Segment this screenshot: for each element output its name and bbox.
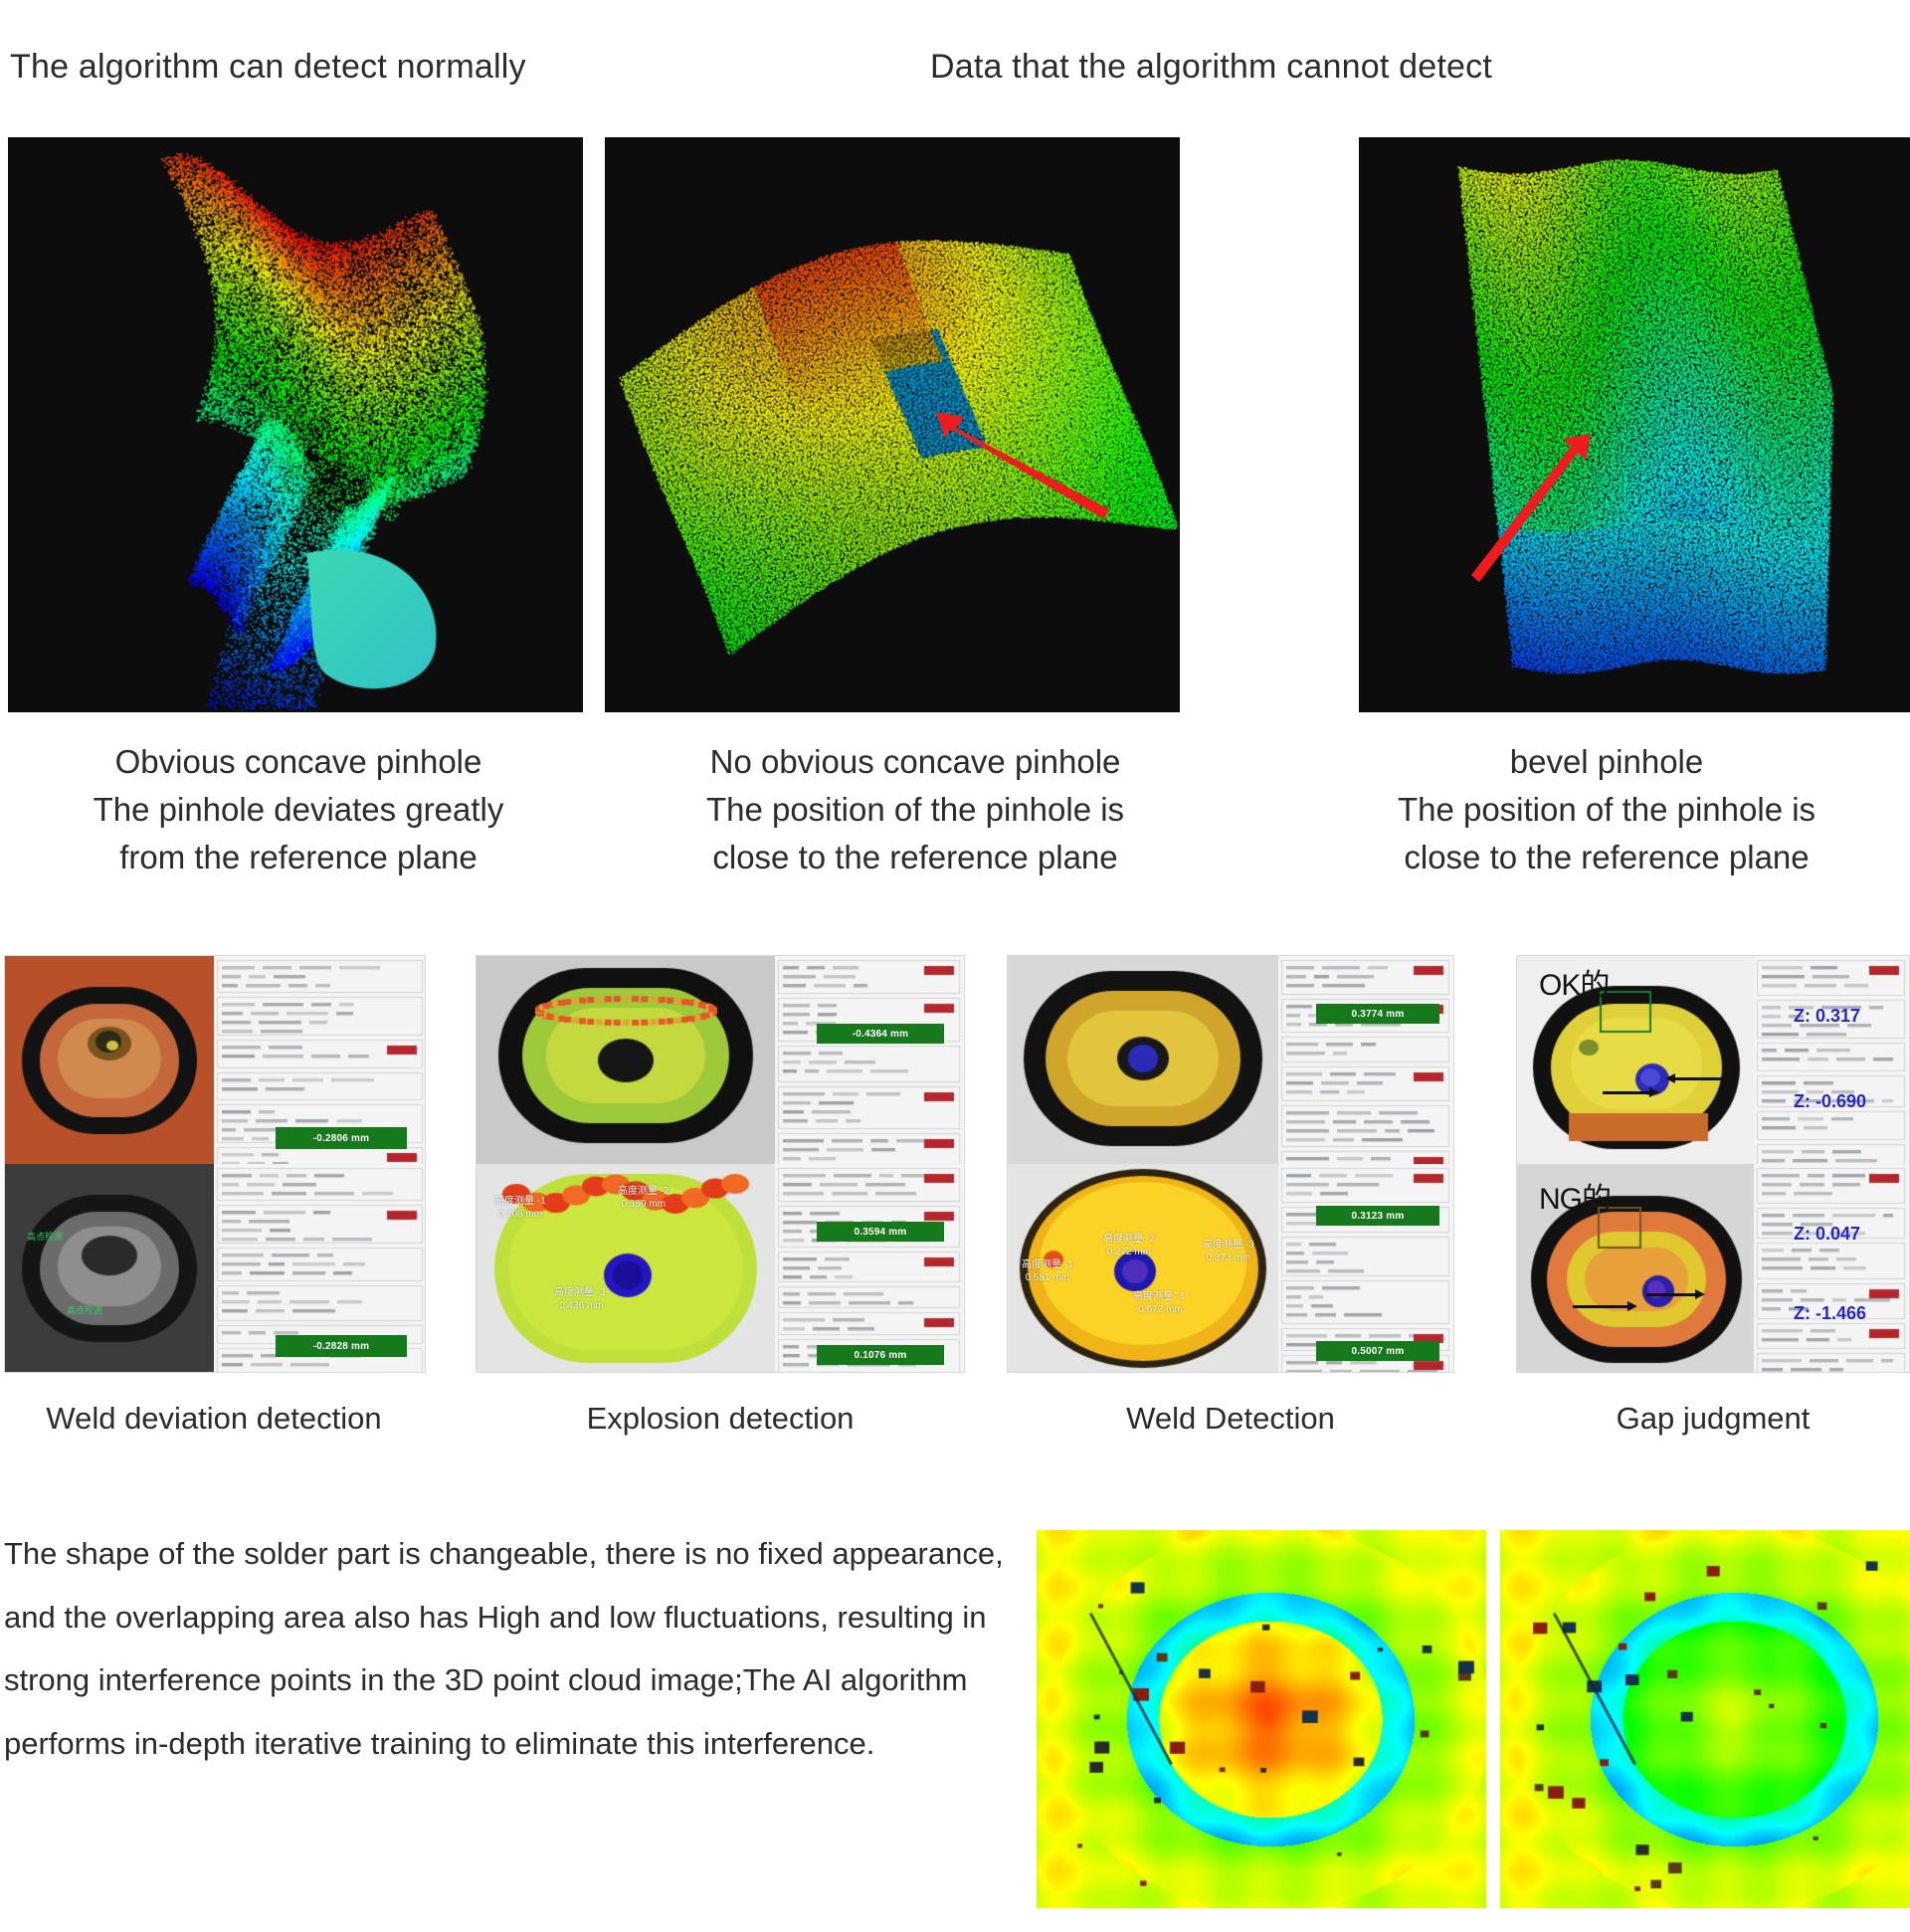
sample-thumbnail: NG的 [1517, 1164, 1754, 1372]
parameter-pane: Z: 0.317 Z: -0.690 [1754, 956, 1909, 1164]
measurement-value: 0.3774 mm [1316, 1004, 1439, 1024]
gap-arrow-right-icon [1646, 1293, 1696, 1296]
measurement-value: -0.2806 mm [276, 1127, 407, 1149]
measurement-value: 0.1076 mm [817, 1345, 944, 1365]
overlay-value: 0.581 mm [1026, 1272, 1069, 1283]
z-value: Z: 0.047 [1794, 1224, 1860, 1245]
z-value: Z: -0.690 [1794, 1091, 1866, 1112]
overlay-value: 0.373 mm [1207, 1253, 1250, 1263]
caption-line: bevel pinhole [1303, 738, 1910, 786]
app-half-top: -0.4364 mm [477, 956, 964, 1164]
sample-thumbnail [477, 956, 775, 1164]
overlay-measurement-3: 高度测量 -3 0.373 mm [1203, 1240, 1254, 1264]
app-half-bottom-ng: NG的 Z: 0.047 Z: -1.466 [1517, 1164, 1909, 1372]
overlay-title: 高度测量 -4 [1133, 1291, 1185, 1302]
parameter-pane: 0.3123 mm 0.5007 mm [1278, 1164, 1453, 1372]
caption-line: from the reference plane [0, 834, 597, 881]
caption-bevel-pinhole: bevel pinhole The position of the pinhol… [1303, 738, 1910, 882]
sample-thumbnail [5, 956, 214, 1164]
gap-arrow-right-icon [1573, 1305, 1628, 1308]
sample-thumbnail: 高度测量 -1 0.581 mm 高度测量 -2 0.272 mm 高度测量 -… [1008, 1164, 1278, 1372]
overlay-measurement-1: 高度测量 -1 0.581 mm [1022, 1259, 1073, 1284]
overlay-title: 高度测量 -2 [1103, 1234, 1155, 1245]
measurement-value: 0.5007 mm [1316, 1341, 1439, 1361]
pointcloud-panel-bevel-pinhole [1359, 137, 1910, 712]
render-solder-ring-left [1037, 1530, 1486, 1908]
app-half-bottom: -0.2828 mm [5, 1164, 425, 1372]
gap-arrow-right-icon [1603, 1091, 1650, 1094]
overlay-measurement-1: 高度测量 -1 0.108 mm [494, 1196, 546, 1221]
app-half-bottom: 高度测量 -1 0.581 mm 高度测量 -2 0.272 mm 高度测量 -… [1008, 1164, 1453, 1372]
overlay-title: 高度测量 -3 [554, 1287, 606, 1298]
overlay-value: 0.359 mm [622, 1199, 666, 1210]
render-row [0, 1530, 1910, 1918]
pointcloud-canvas-2 [605, 137, 1180, 712]
overlay-value: -0.436 mm [556, 1300, 604, 1311]
app-half-bottom: 高度测量 -1 0.108 mm 高度测量 -2 0.359 mm 高度测量 -… [477, 1164, 964, 1372]
overlay-measurement-4: 高度测量 -4 -0.672 mm [1133, 1291, 1185, 1316]
overlay-title: 高度测量 -2 [618, 1186, 669, 1197]
caption-line: close to the reference plane [597, 834, 1234, 881]
caption-no-obvious-concave-pinhole: No obvious concave pinhole The position … [597, 738, 1234, 882]
z-value: Z: -1.466 [1794, 1303, 1866, 1324]
app-caption-row: Weld deviation detection Explosion detec… [0, 1401, 1910, 1460]
app-half-top: 0.3774 mm [1008, 956, 1453, 1164]
sample-thumbnail: OK的 [1517, 956, 1754, 1164]
caption-line: The position of the pinhole is [597, 786, 1234, 834]
caption-line: Obvious concave pinhole [0, 738, 597, 786]
overlay-title: 高度测量 -1 [494, 1196, 546, 1207]
parameter-pane: -0.4364 mm [775, 956, 964, 1164]
measurement-value: -0.2828 mm [276, 1335, 407, 1357]
overlay-value: 0.108 mm [498, 1209, 542, 1220]
measurement-value: 0.3594 mm [817, 1222, 944, 1242]
overlay-title: 高度测量 -1 [1022, 1259, 1073, 1270]
sample-thumbnail: 高度测量 -1 0.108 mm 高度测量 -2 0.359 mm 高度测量 -… [477, 1164, 775, 1372]
caption-obvious-concave-pinhole: Obvious concave pinhole The pinhole devi… [0, 738, 597, 882]
caption-gap-judgment: Gap judgment [1516, 1401, 1910, 1437]
header-cannot-detect: Data that the algorithm cannot detect [930, 48, 1492, 87]
app-panel-explosion-detection: -0.4364 mm 高度测量 -1 0.108 mm 高度测量 -2 0.35… [476, 955, 965, 1373]
app-screenshot-row: -0.2806 mm -0.2828 mm [0, 955, 1910, 1373]
gap-arrow-left-icon [1674, 1077, 1722, 1080]
overlay-value: 0.272 mm [1107, 1247, 1151, 1257]
caption-line: The position of the pinhole is [1303, 786, 1910, 834]
app-panel-weld-deviation-detection: -0.2806 mm -0.2828 mm [4, 955, 426, 1373]
ng-verdict-mark: NG的 [1539, 1174, 1611, 1218]
pointcloud-canvas-1 [8, 137, 583, 712]
caption-weld-detection: Weld Detection [1007, 1401, 1454, 1437]
render-solder-ring-right [1500, 1530, 1910, 1908]
pointcloud-panel-obvious-concave-pinhole [8, 137, 583, 712]
pointcloud-panel-no-obvious-concave-pinhole [605, 137, 1180, 712]
parameter-pane: Z: 0.047 Z: -1.466 [1754, 1164, 1909, 1372]
sample-thumbnail [5, 1164, 214, 1372]
measurement-value: 0.3123 mm [1316, 1206, 1439, 1226]
caption-weld-deviation-detection: Weld deviation detection [0, 1401, 428, 1437]
caption-line: The pinhole deviates greatly [0, 786, 597, 834]
pointcloud-caption-row: Obvious concave pinhole The pinhole devi… [0, 738, 1910, 897]
slide-root: The algorithm can detect normally Data t… [0, 0, 1910, 1932]
parameter-pane: -0.2828 mm [214, 1164, 425, 1372]
parameter-pane: -0.2806 mm [214, 956, 425, 1164]
caption-explosion-detection: Explosion detection [476, 1401, 965, 1437]
caption-line: No obvious concave pinhole [597, 738, 1234, 786]
sample-thumbnail [1008, 956, 1278, 1164]
app-panel-weld-detection: 0.3774 mm 高度测量 -1 0.581 mm 高度测量 -2 0.272… [1007, 955, 1454, 1373]
overlay-value: -0.672 mm [1135, 1304, 1183, 1315]
parameter-pane: 0.3594 mm 0.1076 mm [775, 1164, 964, 1372]
caption-line: close to the reference plane [1303, 834, 1910, 881]
app-half-top-ok: OK的 Z: 0.317 Z: -0.690 [1517, 956, 1909, 1164]
pointcloud-canvas-3 [1359, 137, 1910, 712]
parameter-pane: 0.3774 mm [1278, 956, 1453, 1164]
measurement-value: -0.4364 mm [817, 1024, 944, 1044]
header-row: The algorithm can detect normally Data t… [0, 48, 1910, 96]
app-half-top: -0.2806 mm [5, 956, 425, 1164]
ok-verdict-mark: OK的 [1539, 960, 1609, 1004]
header-detect-normally: The algorithm can detect normally [10, 48, 526, 87]
overlay-measurement-2: 高度测量 -2 0.359 mm [618, 1186, 669, 1211]
overlay-measurement-2: 高度测量 -2 0.272 mm [1103, 1234, 1155, 1258]
pointcloud-row [0, 137, 1910, 712]
z-value: Z: 0.317 [1794, 1006, 1860, 1027]
overlay-measurement-3: 高度测量 -3 -0.436 mm [554, 1287, 606, 1312]
app-panel-gap-judgment: OK的 Z: 0.317 Z: -0.690 NG的 [1516, 955, 1910, 1373]
overlay-title: 高度测量 -3 [1203, 1240, 1254, 1251]
